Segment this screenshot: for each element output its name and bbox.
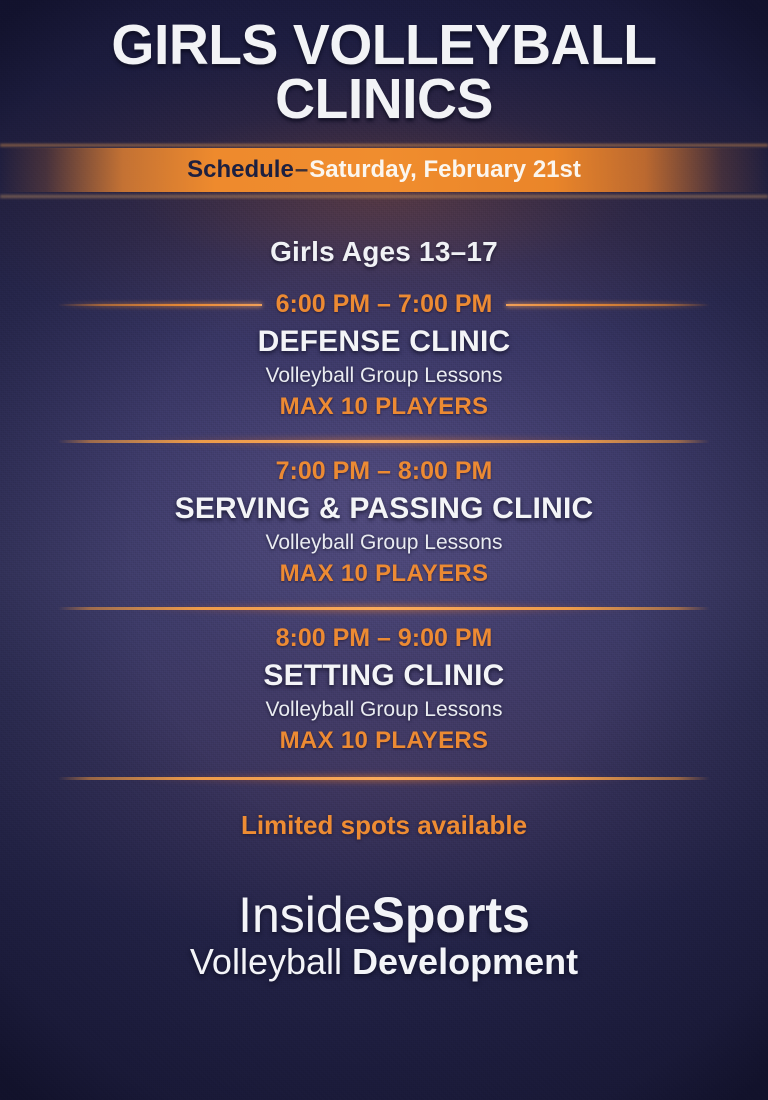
schedule-band-text: Schedule–Saturday, February 21st bbox=[187, 158, 581, 182]
session-3-subtitle: Volleyball Group Lessons bbox=[0, 698, 768, 722]
session-2-time: 7:00 PM – 8:00 PM bbox=[0, 457, 768, 486]
session-2-name: SERVING & PASSING CLINIC bbox=[0, 492, 768, 526]
session-divider-1 bbox=[58, 440, 710, 443]
poster-root: GIRLS VOLLEYBALL CLINICS Schedule–Saturd… bbox=[0, 0, 768, 1100]
session-1-time: 6:00 PM – 7:00 PM bbox=[276, 290, 493, 319]
time-rule-left-icon bbox=[58, 304, 262, 306]
schedule-label: Schedule bbox=[187, 156, 294, 183]
session-1-subtitle: Volleyball Group Lessons bbox=[0, 364, 768, 388]
session-2-max-players: MAX 10 PLAYERS bbox=[0, 560, 768, 588]
session-block-1: 6:00 PM – 7:00 PM DEFENSE CLINIC Volleyb… bbox=[0, 290, 768, 421]
session-1-name: DEFENSE CLINIC bbox=[0, 325, 768, 359]
session-3-time: 8:00 PM – 9:00 PM bbox=[0, 624, 768, 653]
brand-tagline-part-1: Volleyball bbox=[190, 941, 352, 982]
session-divider-3 bbox=[58, 777, 710, 780]
age-range-label: Girls Ages 13–17 bbox=[0, 236, 768, 268]
session-1-max-players: MAX 10 PLAYERS bbox=[0, 393, 768, 421]
session-block-3: 8:00 PM – 9:00 PM SETTING CLINIC Volleyb… bbox=[0, 624, 768, 755]
limited-spots-notice: Limited spots available bbox=[0, 810, 768, 841]
poster-content: GIRLS VOLLEYBALL CLINICS Schedule–Saturd… bbox=[0, 0, 768, 1100]
brand-name-part-2: Sports bbox=[372, 887, 530, 943]
schedule-band: Schedule–Saturday, February 21st bbox=[0, 144, 768, 196]
session-3-max-players: MAX 10 PLAYERS bbox=[0, 727, 768, 755]
brand-tagline: Volleyball Development bbox=[0, 943, 768, 980]
session-2-subtitle: Volleyball Group Lessons bbox=[0, 531, 768, 555]
time-rule-right-icon bbox=[506, 304, 710, 306]
session-block-2: 7:00 PM – 8:00 PM SERVING & PASSING CLIN… bbox=[0, 457, 768, 588]
brand-logo: InsideSports Volleyball Development bbox=[0, 889, 768, 980]
session-3-name: SETTING CLINIC bbox=[0, 659, 768, 693]
brand-tagline-part-2: Development bbox=[352, 941, 578, 982]
session-1-time-row: 6:00 PM – 7:00 PM bbox=[0, 290, 768, 319]
schedule-date: Saturday, February 21st bbox=[309, 156, 581, 183]
session-divider-2 bbox=[58, 607, 710, 610]
title-line-2: CLINICS bbox=[12, 72, 757, 126]
schedule-dash: – bbox=[294, 156, 309, 183]
brand-name-part-1: Inside bbox=[238, 887, 371, 943]
brand-name: InsideSports bbox=[0, 889, 768, 941]
page-title: GIRLS VOLLEYBALL CLINICS bbox=[12, 0, 757, 126]
